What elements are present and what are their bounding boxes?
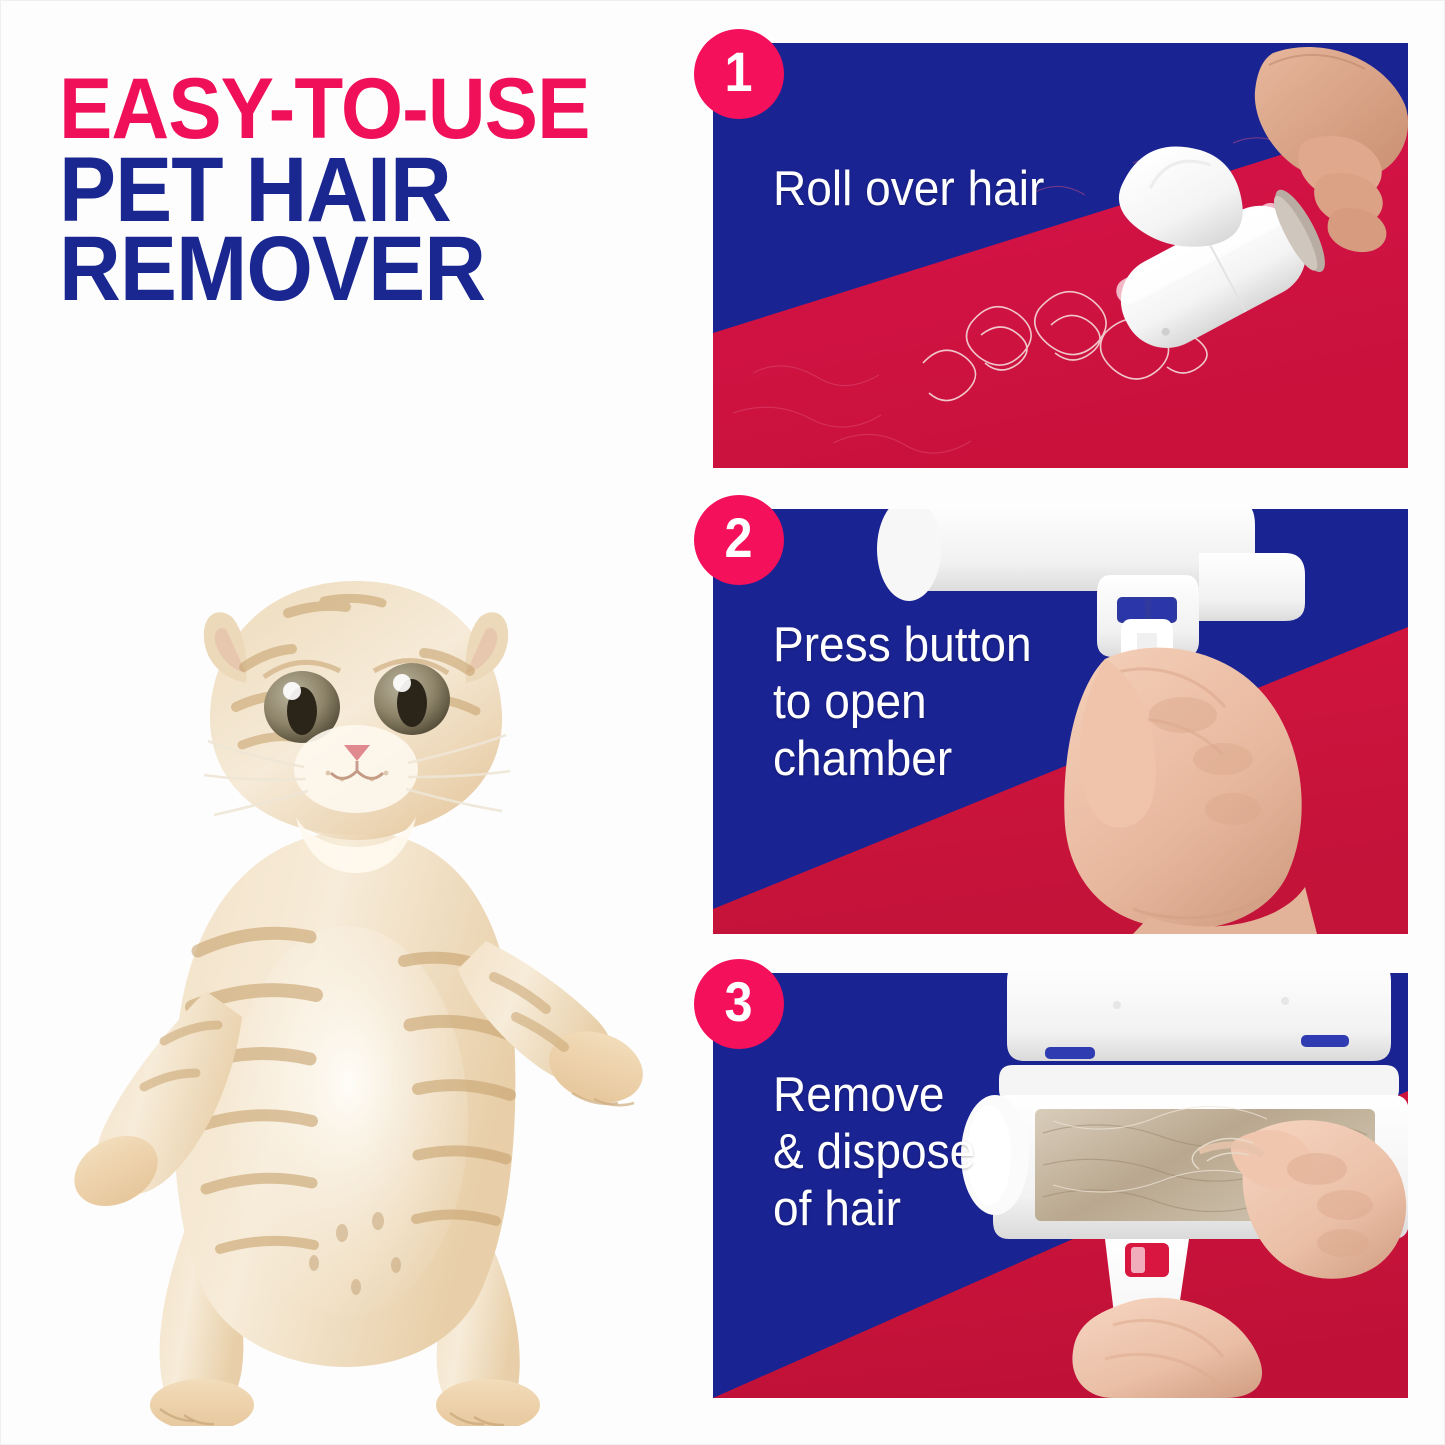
- step-panel-3: Remove & dispose of hair: [713, 973, 1408, 1398]
- step-badge-1: 1: [694, 29, 784, 119]
- step-1-image: [713, 43, 1408, 468]
- step-badge-2: 2: [694, 495, 784, 585]
- headline-line-1: EASY-TO-USE: [59, 73, 636, 147]
- step-1-caption: Roll over hair: [773, 161, 1044, 218]
- infographic-canvas: EASY-TO-USE PET HAIR REMOVER: [0, 0, 1445, 1445]
- step-3-caption: Remove & dispose of hair: [773, 1067, 975, 1237]
- step-badge-2-number: 2: [725, 510, 753, 566]
- step-badge-3-number: 3: [725, 974, 753, 1030]
- headline-line-3: REMOVER: [59, 230, 636, 309]
- step-panel-2: Press button to open chamber: [713, 509, 1408, 934]
- step-badge-3: 3: [694, 959, 784, 1049]
- step-badge-1-number: 1: [725, 44, 753, 100]
- step-panel-1: Roll over hair: [713, 43, 1408, 468]
- step-2-caption: Press button to open chamber: [773, 617, 1032, 787]
- hero-cat-image: [56, 521, 666, 1426]
- page-title: EASY-TO-USE PET HAIR REMOVER: [59, 73, 679, 309]
